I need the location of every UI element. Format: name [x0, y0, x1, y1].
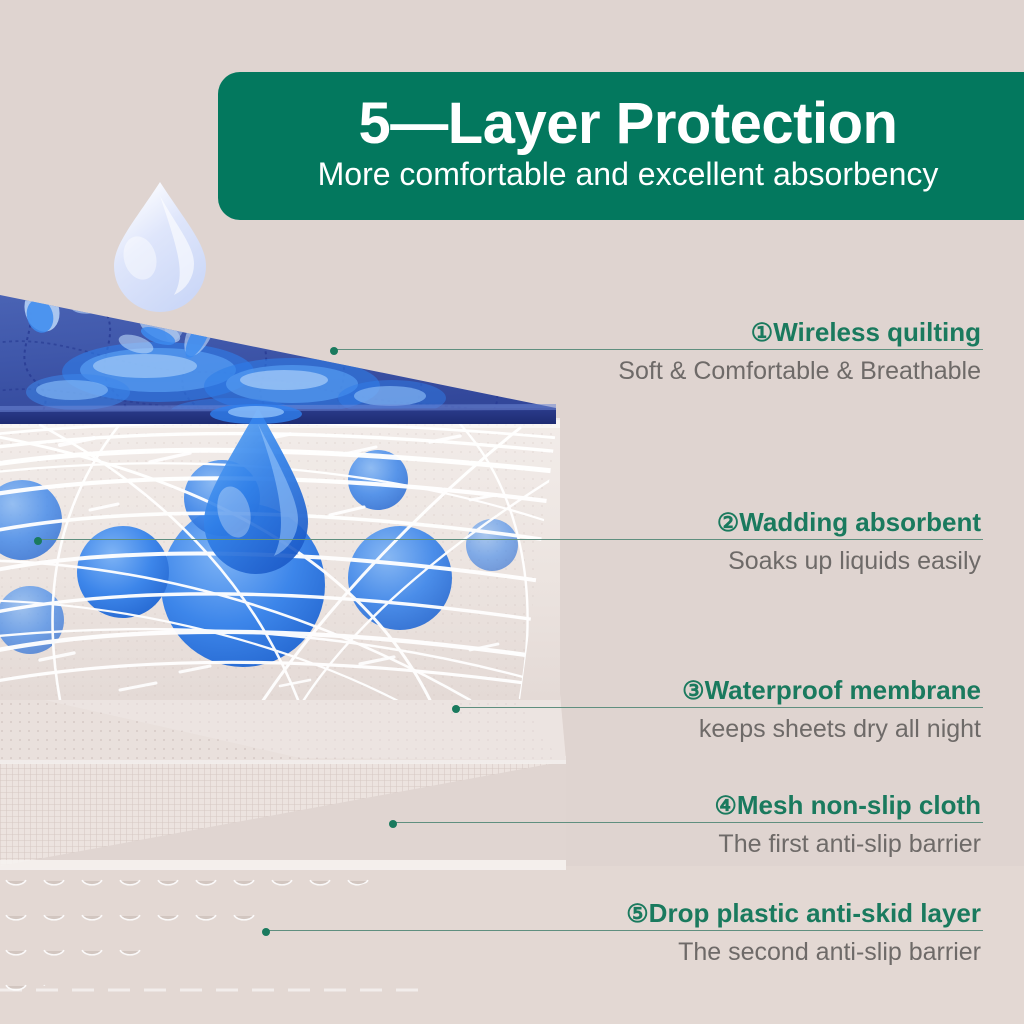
callout-1-number: ①: [751, 319, 773, 347]
infographic-canvas: 5—Layer Protection More comfortable and …: [0, 0, 1024, 1024]
callout-3: ③Waterproof membrane keeps sheets dry al…: [455, 676, 983, 744]
callout-3-description: keeps sheets dry all night: [455, 714, 983, 744]
callout-4: ④Mesh non-slip cloth The first anti-slip…: [392, 791, 983, 859]
callout-2-label: Wadding absorbent: [739, 507, 981, 537]
callout-5-number: ⑤: [626, 900, 648, 928]
callout-4-description: The first anti-slip barrier: [392, 829, 983, 859]
callout-1-title: ①Wireless quilting: [333, 318, 983, 347]
callout-4-leader-line: [392, 822, 983, 823]
callout-3-number: ③: [682, 677, 704, 705]
callout-5-description: The second anti-slip barrier: [265, 937, 983, 967]
callout-5-title: ⑤Drop plastic anti-skid layer: [265, 899, 983, 928]
callout-4-title: ④Mesh non-slip cloth: [392, 791, 983, 820]
callout-4-number: ④: [714, 792, 736, 820]
callout-5: ⑤Drop plastic anti-skid layer The second…: [265, 899, 983, 967]
callout-2-title: ②Wadding absorbent: [37, 508, 983, 537]
callout-3-leader-line: [455, 707, 983, 708]
banner-subtitle: More comfortable and excellent absorbenc…: [318, 157, 939, 192]
callout-5-label: Drop plastic anti-skid layer: [649, 898, 981, 928]
callout-3-title: ③Waterproof membrane: [455, 676, 983, 705]
header-banner: 5—Layer Protection More comfortable and …: [218, 72, 1024, 220]
callout-2-number: ②: [717, 509, 739, 537]
callout-2: ②Wadding absorbent Soaks up liquids easi…: [37, 508, 983, 576]
callout-5-leader-line: [265, 930, 983, 931]
callout-1-label: Wireless quilting: [773, 317, 981, 347]
callout-1-leader-line: [333, 349, 983, 350]
callout-1: ①Wireless quilting Soft & Comfortable & …: [333, 318, 983, 386]
banner-title: 5—Layer Protection: [359, 94, 898, 153]
callout-2-leader-line: [37, 539, 983, 540]
callout-2-description: Soaks up liquids easily: [37, 546, 983, 576]
callout-4-label: Mesh non-slip cloth: [737, 790, 981, 820]
callout-1-description: Soft & Comfortable & Breathable: [333, 356, 983, 386]
callout-3-label: Waterproof membrane: [705, 675, 981, 705]
